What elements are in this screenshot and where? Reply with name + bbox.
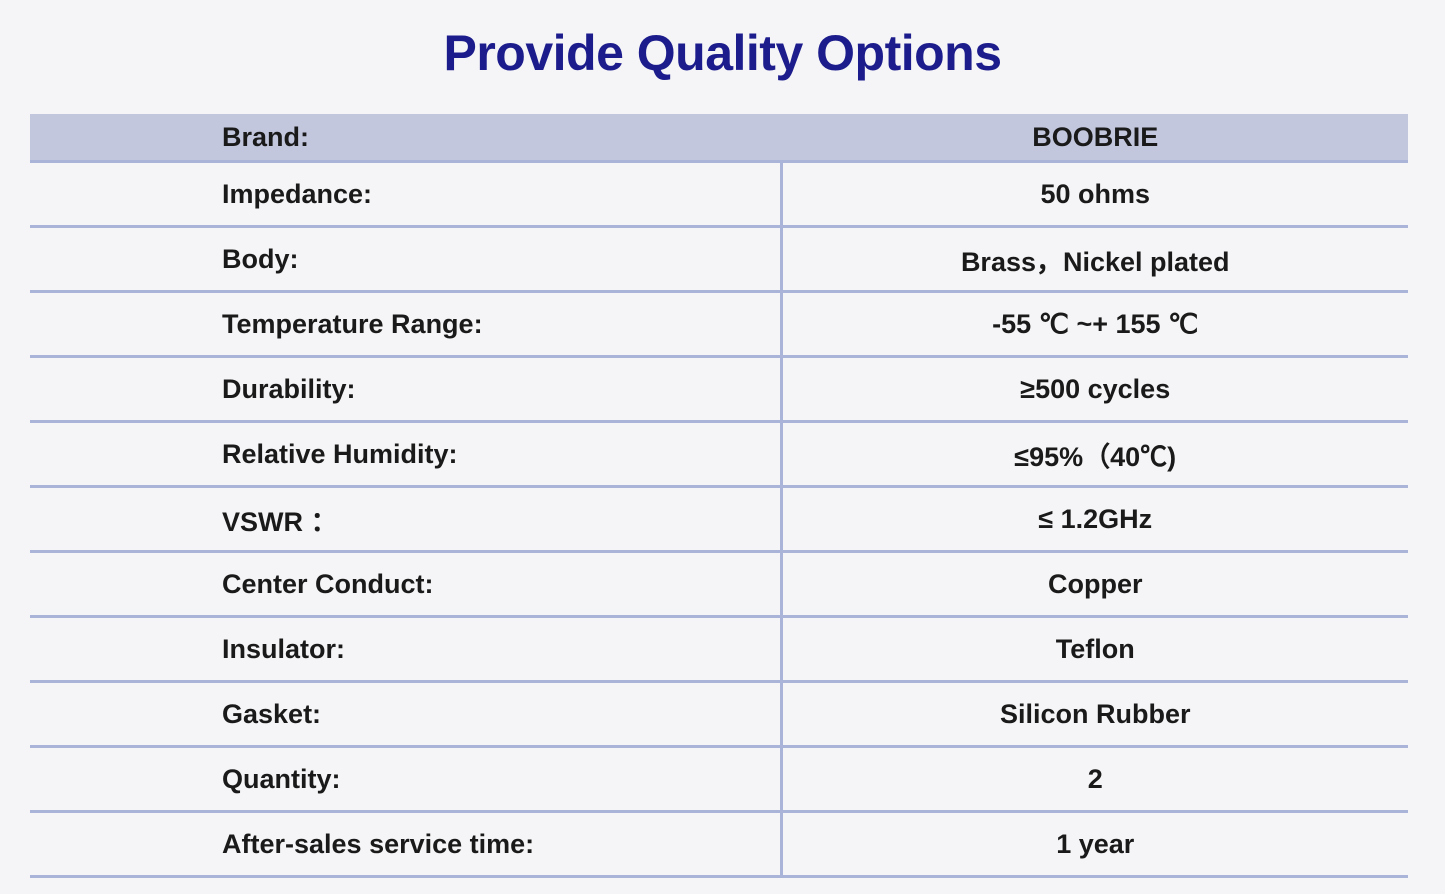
spec-sheet-page: Provide Quality Options Brand: BOOBRIE I… [0,0,1445,894]
spec-label-cell: After-sales service time: [30,812,781,877]
spec-label-cell: Temperature Range: [30,292,781,357]
spec-value-cell: -55 ℃ ~+ 155 ℃ [781,292,1408,357]
spec-value-cell: BOOBRIE [781,114,1408,162]
table-row: Insulator: Teflon [30,617,1408,682]
spec-label-cell: Brand: [30,114,781,162]
spec-label-cell: Durability: [30,357,781,422]
table-row: Impedance: 50 ohms [30,162,1408,227]
table-row: After-sales service time: 1 year [30,812,1408,877]
spec-label-cell: VSWR ： [30,487,781,552]
table-row: VSWR ： ≤ 1.2GHz [30,487,1408,552]
spec-label-cell: Body: [30,227,781,292]
table-row: Center Conduct: Copper [30,552,1408,617]
spec-label-cell: Quantity: [30,747,781,812]
table-row: Temperature Range: -55 ℃ ~+ 155 ℃ [30,292,1408,357]
spec-value-cell: ≥500 cycles [781,357,1408,422]
table-row: Gasket: Silicon Rubber [30,682,1408,747]
spec-value-cell: 50 ohms [781,162,1408,227]
spec-value-cell: Teflon [781,617,1408,682]
spec-label-cell: Relative Humidity: [30,422,781,487]
spec-value-cell: 1 year [781,812,1408,877]
spec-label-cell: Insulator: [30,617,781,682]
spec-value-cell: Brass，Nickel plated [781,227,1408,292]
spec-value-cell: ≤95%（40℃) [781,422,1408,487]
spec-value-cell: Copper [781,552,1408,617]
spec-value-cell: 2 [781,747,1408,812]
table-row: Durability: ≥500 cycles [30,357,1408,422]
spec-label-cell: Impedance: [30,162,781,227]
spec-label-cell: Center Conduct: [30,552,781,617]
specifications-table: Brand: BOOBRIE Impedance: 50 ohms Body: … [30,114,1408,878]
spec-table-container: Brand: BOOBRIE Impedance: 50 ohms Body: … [30,114,1408,878]
table-row: Body: Brass，Nickel plated [30,227,1408,292]
spec-table-body: Brand: BOOBRIE Impedance: 50 ohms Body: … [30,114,1408,877]
spec-label-cell: Gasket: [30,682,781,747]
spec-value-cell: ≤ 1.2GHz [781,487,1408,552]
table-row: Quantity: 2 [30,747,1408,812]
page-title: Provide Quality Options [0,22,1445,84]
table-row: Brand: BOOBRIE [30,114,1408,162]
spec-value-cell: Silicon Rubber [781,682,1408,747]
table-row: Relative Humidity: ≤95%（40℃) [30,422,1408,487]
